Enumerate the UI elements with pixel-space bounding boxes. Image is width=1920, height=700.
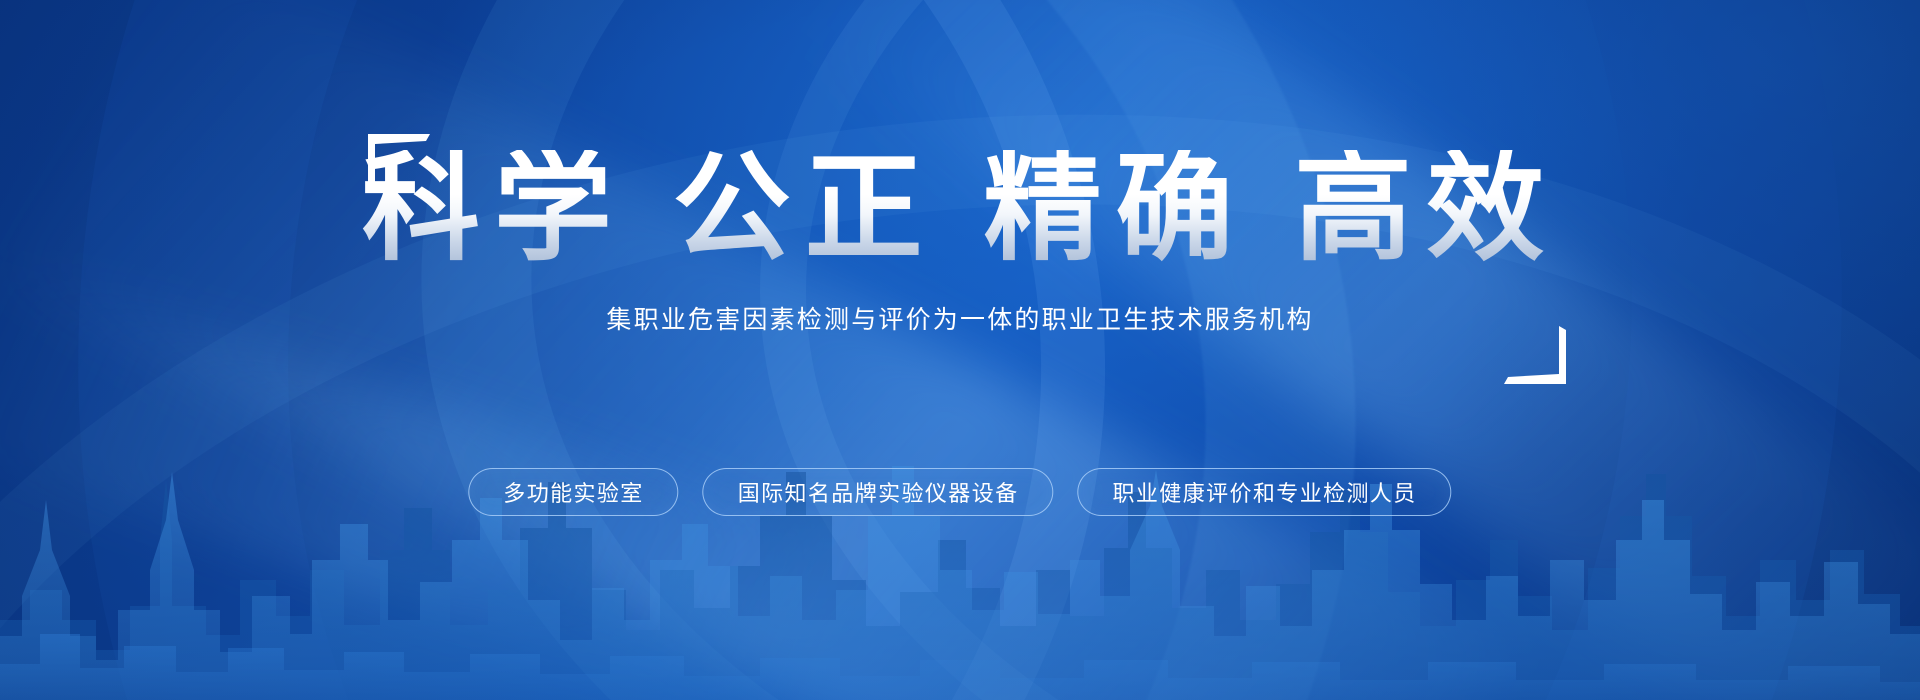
headline-block: 科学 公正 精确 高效 集职业危害因素检测与评价为一体的职业卫生技术服务机构 [310, 150, 1610, 336]
feature-pill-personnel[interactable]: 职业健康评价和专业检测人员 [1078, 468, 1452, 516]
feature-pill-row: 多功能实验室 国际知名品牌实验仪器设备 职业健康评价和专业检测人员 [468, 468, 1451, 516]
page-title: 科学 公正 精确 高效 [310, 150, 1610, 268]
banner-content: 科学 公正 精确 高效 集职业危害因素检测与评价为一体的职业卫生技术服务机构 多… [0, 0, 1920, 700]
page-subtitle: 集职业危害因素检测与评价为一体的职业卫生技术服务机构 [310, 300, 1610, 336]
feature-pill-equipment[interactable]: 国际知名品牌实验仪器设备 [703, 468, 1054, 516]
hero-banner: 科学 公正 精确 高效 集职业危害因素检测与评价为一体的职业卫生技术服务机构 多… [0, 0, 1920, 700]
feature-pill-lab[interactable]: 多功能实验室 [468, 468, 678, 516]
